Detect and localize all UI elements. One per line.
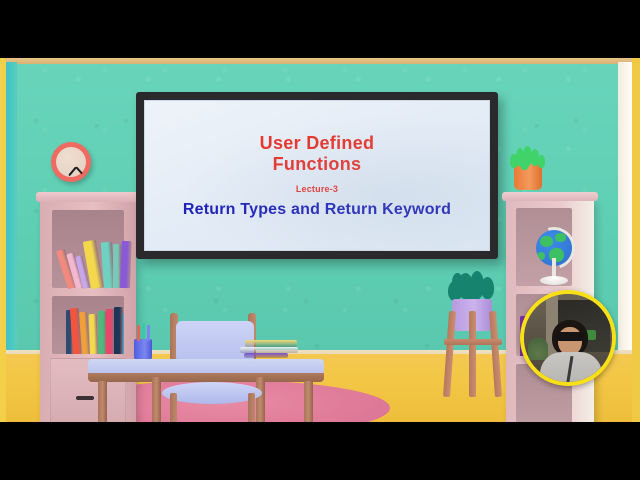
clock-minute-hand	[68, 166, 77, 176]
sunglasses-icon	[556, 332, 584, 341]
pen-cup	[134, 339, 152, 361]
desk-leg-back-left	[152, 377, 161, 422]
succulent-leaf	[481, 277, 494, 299]
shelf-left-upper-cavity	[52, 210, 124, 288]
chair-leg-right	[248, 393, 255, 422]
right-edge-strip	[632, 58, 640, 422]
plant-leaf	[538, 155, 545, 168]
slide-subtitle: Return Types and Return Keyword	[183, 201, 451, 219]
books-upper-group	[52, 210, 124, 288]
student-desk	[88, 303, 324, 422]
whiteboard: User Defined Functions Lecture-3 Return …	[136, 92, 498, 259]
side-wall-right	[618, 62, 632, 358]
side-wall-left	[6, 62, 17, 358]
potted-plant-top	[514, 164, 542, 190]
slide-title-line1: User Defined	[260, 133, 375, 154]
plant-leaves	[510, 146, 546, 168]
presenter-webcam[interactable]	[520, 290, 616, 386]
letterbox-bar-top	[0, 0, 640, 58]
plant-stand	[440, 253, 504, 413]
clock-face	[56, 147, 86, 177]
desk-book	[245, 340, 297, 347]
stand-leg-right	[489, 311, 502, 397]
globe-landmass	[555, 233, 566, 242]
globe-landmass	[537, 252, 545, 260]
pen	[142, 323, 145, 339]
globe-landmass	[540, 236, 553, 247]
desk-book	[244, 353, 288, 358]
pen	[147, 325, 150, 341]
chair-seat	[162, 382, 262, 404]
left-edge-strip	[0, 58, 6, 422]
succulent-leaf	[452, 273, 463, 291]
desk-leg-back-right	[256, 377, 265, 422]
desk-book-stack	[240, 337, 304, 361]
pen	[137, 325, 140, 341]
desk-leg-front-right	[304, 381, 313, 422]
shelf-left-top	[36, 192, 140, 202]
globe-base	[540, 276, 568, 285]
letterbox-bar-bottom	[0, 422, 640, 480]
chair-leg-left	[170, 393, 177, 422]
book	[120, 241, 132, 288]
stand-rail	[444, 339, 502, 345]
slide-title-line2: Functions	[273, 154, 362, 175]
video-frame: User Defined Functions Lecture-3 Return …	[0, 0, 640, 480]
webcam-plant	[528, 338, 548, 360]
lecture-number-label: Lecture-3	[296, 184, 338, 194]
stand-leg-left	[443, 311, 456, 397]
shelf-right-top	[502, 192, 598, 201]
desk-leg-front-left	[98, 381, 107, 422]
desk-book	[240, 347, 298, 353]
pens-group	[134, 325, 152, 343]
shelf-right-upper-cavity	[516, 208, 572, 286]
wall-clock-icon	[51, 142, 91, 182]
plant-leaf	[520, 156, 529, 170]
classroom-scene: User Defined Functions Lecture-3 Return …	[0, 58, 640, 422]
ceiling-trim	[0, 58, 640, 64]
whiteboard-surface: User Defined Functions Lecture-3 Return …	[144, 100, 490, 251]
desk-edge	[88, 373, 324, 382]
stand-leg-middle	[469, 311, 476, 397]
